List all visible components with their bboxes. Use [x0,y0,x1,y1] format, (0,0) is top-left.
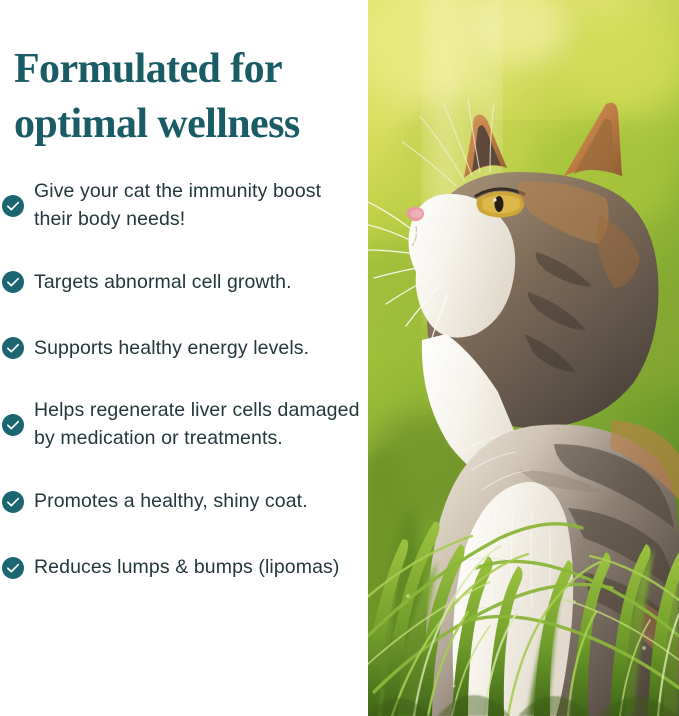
list-item: Supports healthy energy levels. [0,331,368,365]
check-circle-icon [2,414,24,436]
page-title: Formulated for optimal wellness [14,42,354,151]
list-item: Reduces lumps & bumps (lipomas) [0,551,368,585]
list-item: Give your cat the immunity boost their b… [0,178,368,233]
check-circle-icon [2,195,24,217]
headline-line-1: Formulated for [14,42,354,97]
list-item-label: Helps regenerate liver cells damaged by … [34,397,364,452]
check-circle-icon [2,271,24,293]
check-circle-icon [2,337,24,359]
list-item-label: Give your cat the immunity boost their b… [34,178,364,233]
list-item-label: Targets abnormal cell growth. [34,269,292,297]
list-item-label: Reduces lumps & bumps (lipomas) [34,554,339,582]
product-benefits-banner: Formulated for optimal wellness Give you… [0,0,679,716]
check-circle-icon [2,557,24,579]
benefits-list: Give your cat the immunity boost their b… [0,178,368,585]
list-item: Helps regenerate liver cells damaged by … [0,397,368,452]
headline-line-2: optimal wellness [14,97,354,152]
list-item-label: Promotes a healthy, shiny coat. [34,488,308,516]
check-circle-icon [2,491,24,513]
text-panel: Formulated for optimal wellness Give you… [0,0,368,716]
list-item-label: Supports healthy energy levels. [34,335,309,363]
tabby-cat-in-grass-photo [368,0,679,716]
list-item: Targets abnormal cell growth. [0,265,368,299]
list-item: Promotes a healthy, shiny coat. [0,485,368,519]
